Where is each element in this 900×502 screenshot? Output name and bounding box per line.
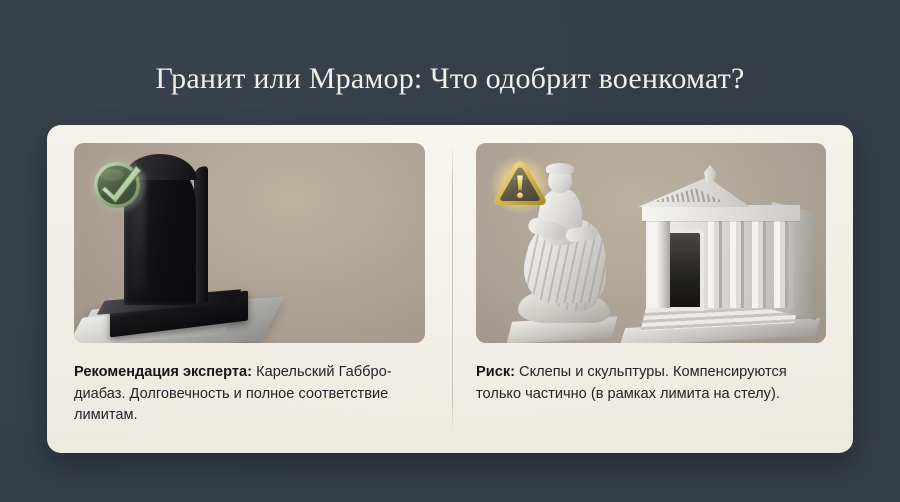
- mausoleum-finial: [704, 165, 716, 181]
- comparison-card: Чёрный гранитный памятник-стела на сером…: [47, 125, 853, 453]
- mausoleum-pediment: [638, 177, 750, 207]
- green-check-circle-icon: [87, 154, 149, 216]
- marble-image-panel: Мраморная скульптура и классический скле…: [476, 143, 826, 343]
- risk-caption: Риск: Склепы и скульптуры. Компенсируютс…: [476, 362, 821, 405]
- comparison-column-risk: Мраморная скульптура и классический скле…: [450, 125, 853, 453]
- yellow-warning-triangle-icon: [489, 154, 551, 216]
- granite-stele-side-face: [194, 166, 208, 305]
- risk-caption-body: Склепы и скульптуры. Компенсируются толь…: [476, 364, 787, 402]
- statue-head: [548, 166, 572, 193]
- column-divider: [452, 145, 453, 433]
- mausoleum-architrave: [642, 205, 800, 221]
- mausoleum-front-column: [648, 216, 670, 308]
- comparison-column-approved: Чёрный гранитный памятник-стела на сером…: [47, 125, 450, 453]
- mausoleum-doorway: [666, 233, 700, 307]
- page-title: Гранит или Мрамор: Что одобрит военкомат…: [0, 62, 900, 96]
- approved-caption-lead: Рекомендация эксперта:: [74, 364, 252, 380]
- granite-image-panel: Чёрный гранитный памятник-стела на сером…: [74, 143, 425, 343]
- risk-caption-lead: Риск:: [476, 364, 515, 380]
- approved-caption: Рекомендация эксперта: Карельский Габбро…: [74, 362, 419, 427]
- marble-mausoleum: [622, 155, 818, 341]
- mausoleum-colonnade: [708, 216, 796, 308]
- slide-canvas: Гранит или Мрамор: Что одобрит военкомат…: [0, 0, 900, 502]
